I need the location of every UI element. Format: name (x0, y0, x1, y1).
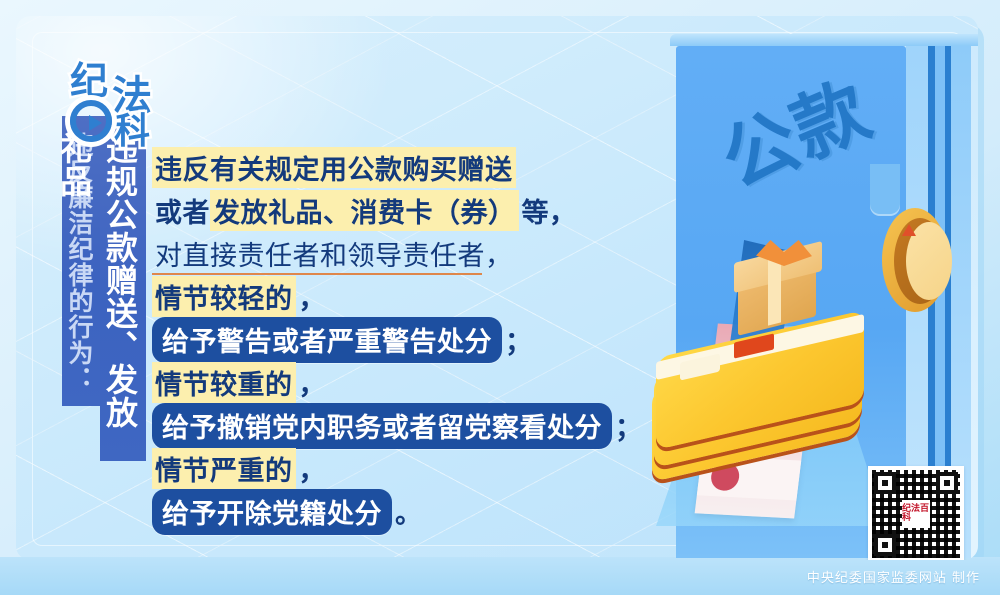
text-segment: 对直接责任者和领导责任者， (152, 234, 513, 273)
text-segment: 。 (392, 492, 423, 531)
poster-card: 公款 (16, 16, 978, 560)
text-segment: 等， (519, 191, 577, 230)
text-segment: 情节较轻的 (152, 276, 296, 317)
door-knob-indicator-icon (902, 224, 916, 236)
text-segment: ； (502, 320, 533, 359)
text-line: 给予开除党籍处分。 (152, 490, 672, 533)
door-top-bar (670, 34, 978, 46)
text-line: 给予警告或者严重警告处分； (152, 318, 672, 361)
text-line: 情节较轻的， (152, 275, 672, 318)
logo-char-ji: 纪 (70, 62, 108, 100)
text-segment: 情节较重的 (152, 362, 296, 403)
text-segment: 发放礼品、消费卡（券） (210, 190, 519, 231)
text-segment: 违反有关规定用公款购买赠送 (152, 147, 516, 188)
text-segment: 情节严重的 (152, 448, 296, 489)
text-line: 给予撤销党内职务或者留党察看处分； (152, 404, 672, 447)
logo-char-fa: 法 (112, 76, 152, 116)
qr-center-logo: 纪法百科 (902, 500, 930, 528)
text-line: 对直接责任者和领导责任者， (152, 232, 672, 275)
regulation-text-block: 违反有关规定用公款购买赠送或者发放礼品、消费卡（券）等，对直接责任者和领导责任者… (152, 146, 672, 533)
qr-finder-icon (936, 472, 958, 494)
text-line: 违反有关规定用公款购买赠送 (152, 146, 672, 189)
credit-text: 中央纪委国家监委网站 制作 (807, 567, 980, 586)
text-segment: 给予警告或者严重警告处分 (152, 317, 502, 363)
gift-card-money-illustration (646, 246, 906, 560)
qr-finder-icon (874, 472, 896, 494)
text-line: 或者发放礼品、消费卡（券）等， (152, 189, 672, 232)
text-segment: 或者 (152, 191, 210, 230)
text-segment: ， (296, 449, 327, 488)
qr-finder-icon (874, 534, 896, 556)
text-segment: 给予撤销党内职务或者留党察看处分 (152, 403, 612, 449)
text-segment: ， (296, 277, 327, 316)
gift-ribbon (768, 254, 781, 325)
qr-code[interactable]: 纪法百科 (868, 466, 964, 560)
door-stripe (971, 46, 978, 558)
door-label-gongkuan: 公款 (703, 51, 885, 209)
play-circle-icon (70, 100, 112, 142)
poster-root: 公款 (0, 0, 1000, 595)
qr-code-matrix: 纪法百科 (872, 470, 960, 558)
text-segment: ； (612, 406, 643, 445)
text-segment: ， (296, 363, 327, 402)
text-segment: 给予开除党籍处分 (152, 489, 392, 535)
logo-char-ke: 科 (114, 114, 150, 150)
door-latch (870, 164, 900, 216)
logo-glyphs: 纪 法 科 (68, 62, 164, 154)
text-line: 情节严重的， (152, 447, 672, 490)
text-line: 情节较重的， (152, 361, 672, 404)
banner-title: 违规公款赠送、发放礼品 (100, 116, 146, 461)
jifa-baike-logo[interactable]: 纪 法 科 (68, 62, 164, 154)
